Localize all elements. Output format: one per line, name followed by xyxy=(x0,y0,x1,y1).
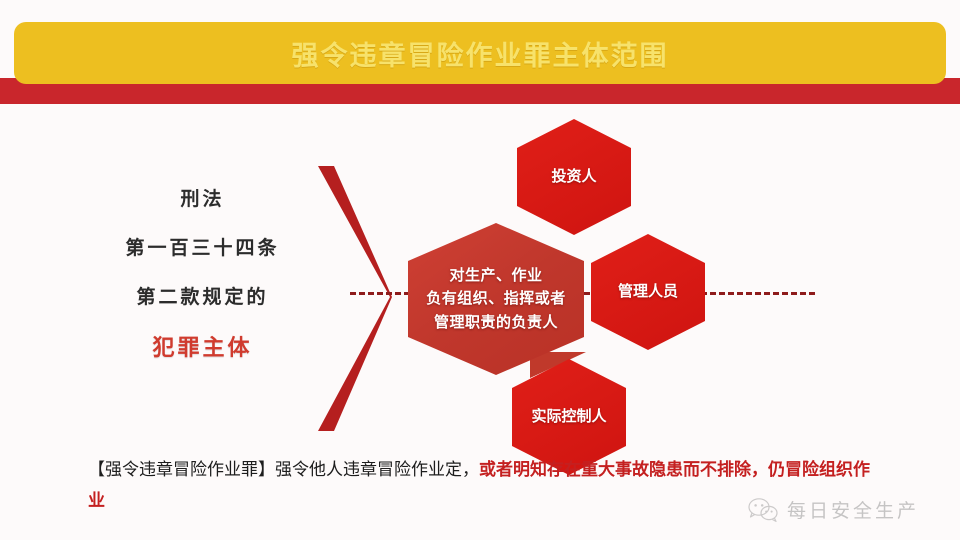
watermark: 每日安全生产 xyxy=(748,496,919,523)
hex-center-line-3: 管理职责的负责人 xyxy=(426,311,566,334)
hex-node-investor[interactable]: 投资人 xyxy=(517,119,631,235)
chevron-right-icon xyxy=(312,166,392,431)
hex-center-line-1: 对生产、作业 xyxy=(426,264,566,287)
wechat-icon xyxy=(748,497,778,523)
legal-reference-line-3: 第二款规定的 xyxy=(100,288,305,307)
hex-node-actual-controller-label: 实际控制人 xyxy=(531,405,606,428)
hex-node-manager-label: 管理人员 xyxy=(618,280,678,303)
page-title: 强令违章冒险作业罪主体范围 xyxy=(292,34,669,73)
legal-reference-subject: 犯罪主体 xyxy=(100,337,305,359)
hex-node-center-label: 对生产、作业 负有组织、指挥或者 管理职责的负责人 xyxy=(426,264,566,334)
watermark-label: 每日安全生产 xyxy=(787,496,919,523)
hex-center-line-2: 负有组织、指挥或者 xyxy=(426,287,566,310)
slide-body: 刑法 第一百三十四条 第二款规定的 犯罪主体 对生产、作业 负有组织、指挥或者 … xyxy=(0,104,960,540)
legal-reference-line-2: 第一百三十四条 xyxy=(100,239,305,258)
hex-node-investor-label: 投资人 xyxy=(551,165,596,188)
header-title-bar: 强令违章冒险作业罪主体范围 xyxy=(14,22,946,84)
legal-reference-block: 刑法 第一百三十四条 第二款规定的 犯罪主体 xyxy=(100,190,305,359)
header-banner: 强令违章冒险作业罪主体范围 xyxy=(0,0,960,104)
footer-segment-definition: 【强令违章冒险作业罪】强令他人违章冒险作业定， xyxy=(88,460,479,479)
footer-segment-hazard: 或者明知存在重大事故隐患而不排除， xyxy=(479,460,768,479)
hex-node-manager[interactable]: 管理人员 xyxy=(591,234,705,350)
legal-reference-line-1: 刑法 xyxy=(100,190,305,209)
